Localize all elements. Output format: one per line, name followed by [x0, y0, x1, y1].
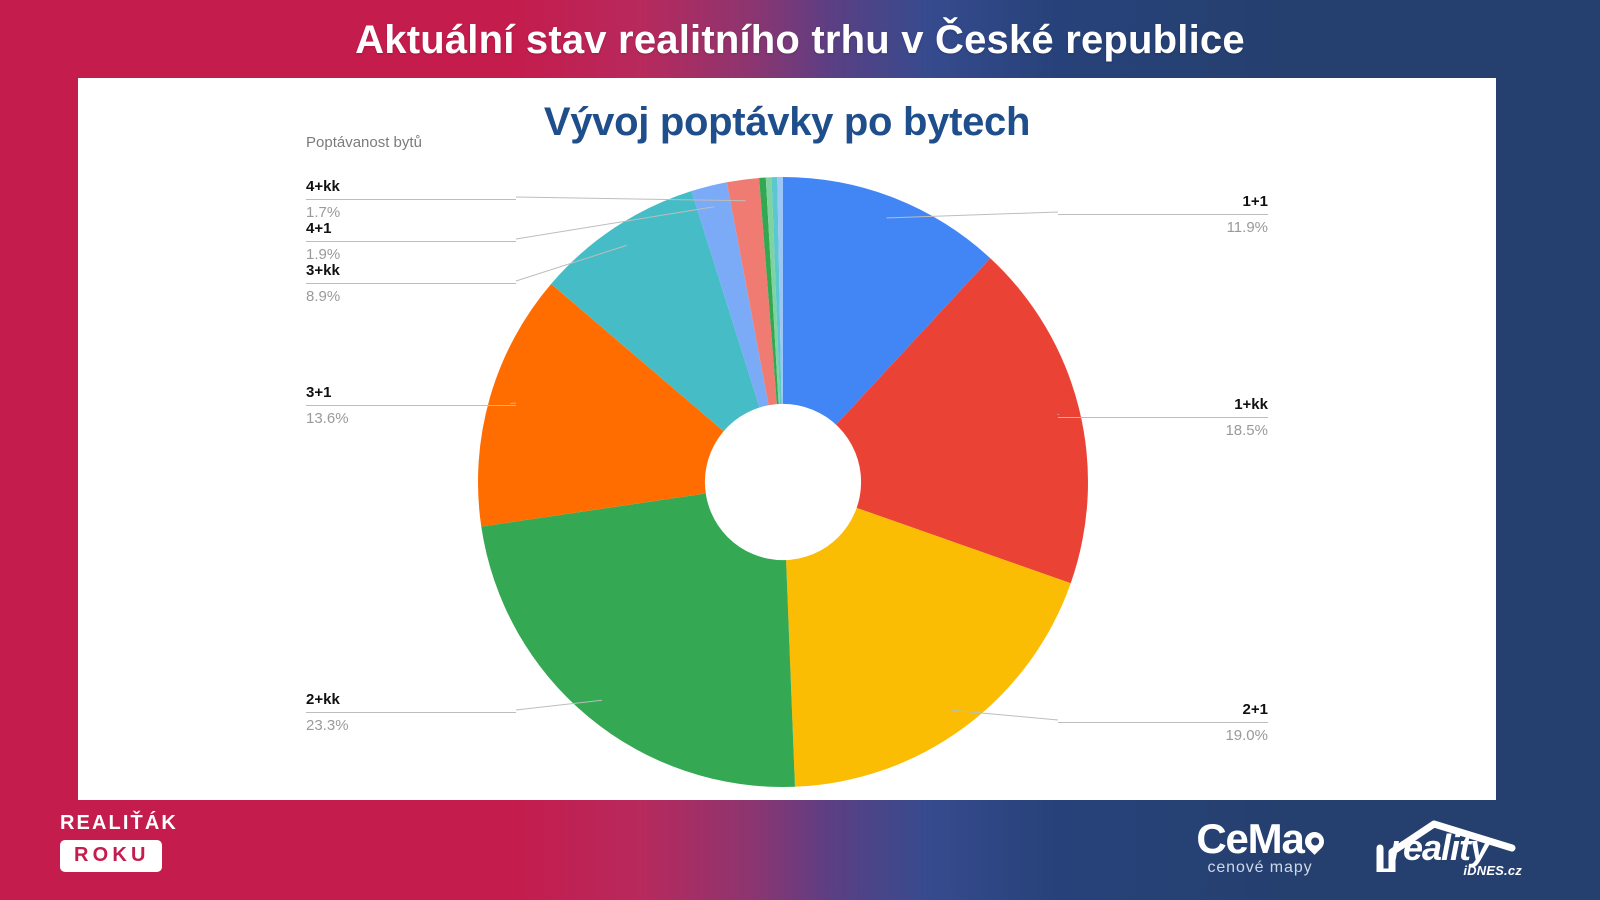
- logo-realitak-roku: REALIŤÁK ROKU: [60, 812, 270, 872]
- logo-cemap: CeMa cenové mapy: [1160, 818, 1360, 877]
- callout-1kk-label: 1+kk: [1058, 394, 1268, 417]
- callout-2kk: 2+kk 23.3%: [306, 689, 516, 737]
- callout-3kk-label: 3+kk: [306, 260, 516, 283]
- page-title: Aktuální stav realitního trhu v České re…: [0, 18, 1600, 63]
- callout-3plus1-value: 13.6%: [306, 406, 516, 429]
- pie-chart: [78, 78, 1496, 800]
- callout-2plus1-value: 19.0%: [1058, 723, 1268, 746]
- callout-4plus1: 4+1 1.9%: [306, 218, 516, 266]
- callout-4kk: 4+kk 1.7%: [306, 176, 516, 224]
- chart-card: Vývoj poptávky po bytech Poptávanost byt…: [78, 78, 1496, 800]
- realitak-line1: REALIŤÁK: [60, 812, 270, 834]
- cemap-wordmark-row: CeMa: [1160, 818, 1360, 860]
- callout-4kk-label: 4+kk: [306, 176, 516, 199]
- donut-hole: [705, 404, 861, 560]
- callout-2plus1: 2+1 19.0%: [1058, 699, 1268, 747]
- callout-3kk: 3+kk 8.9%: [306, 260, 516, 308]
- callout-3plus1-label: 3+1: [306, 382, 516, 405]
- callout-2plus1-label: 2+1: [1058, 699, 1268, 722]
- poster-canvas: Aktuální stav realitního trhu v České re…: [0, 0, 1600, 900]
- logo-reality-idnes: reality iDNES.cz: [1368, 816, 1528, 878]
- callout-2kk-label: 2+kk: [306, 689, 516, 712]
- realitak-line2: ROKU: [60, 840, 162, 872]
- callout-4plus1-label: 4+1: [306, 218, 516, 241]
- callout-1plus1-label: 1+1: [1058, 191, 1268, 214]
- callout-3kk-value: 8.9%: [306, 284, 516, 307]
- map-pin-icon: [1301, 828, 1328, 855]
- callout-2kk-value: 23.3%: [306, 713, 516, 736]
- callout-1kk-value: 18.5%: [1058, 418, 1268, 441]
- callout-1plus1: 1+1 11.9%: [1058, 191, 1268, 239]
- callout-3plus1: 3+1 13.6%: [306, 382, 516, 430]
- idnes-wordmark: iDNES.cz: [1368, 863, 1528, 878]
- pie-chart-svg: [78, 78, 1496, 800]
- cemap-wordmark: CeMa: [1196, 818, 1303, 860]
- callout-1plus1-value: 11.9%: [1058, 215, 1268, 238]
- reality-wordmark: reality: [1368, 816, 1528, 866]
- callout-1kk: 1+kk 18.5%: [1058, 394, 1268, 442]
